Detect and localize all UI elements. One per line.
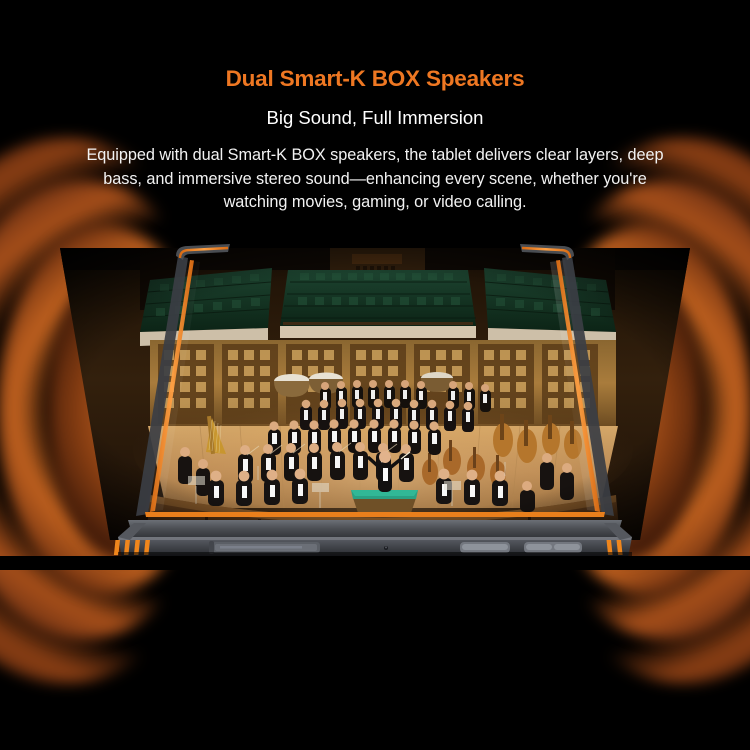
page-subtitle: Big Sound, Full Immersion (0, 92, 750, 129)
page-description: Equipped with dual Smart-K BOX speakers,… (75, 144, 675, 215)
page-title: Dual Smart-K BOX Speakers (0, 0, 750, 92)
promo-text-block: Dual Smart-K BOX Speakers Big Sound, Ful… (0, 0, 750, 215)
bottom-bezel-accent (145, 512, 605, 517)
concert-hall-scene (0, 240, 750, 550)
promo-page: Dual Smart-K BOX Speakers Big Sound, Ful… (0, 0, 750, 750)
tablet-device (0, 240, 750, 570)
volume-button[interactable] (524, 542, 582, 553)
tablet-and-scene-svg (0, 240, 750, 570)
power-button[interactable] (460, 542, 510, 553)
